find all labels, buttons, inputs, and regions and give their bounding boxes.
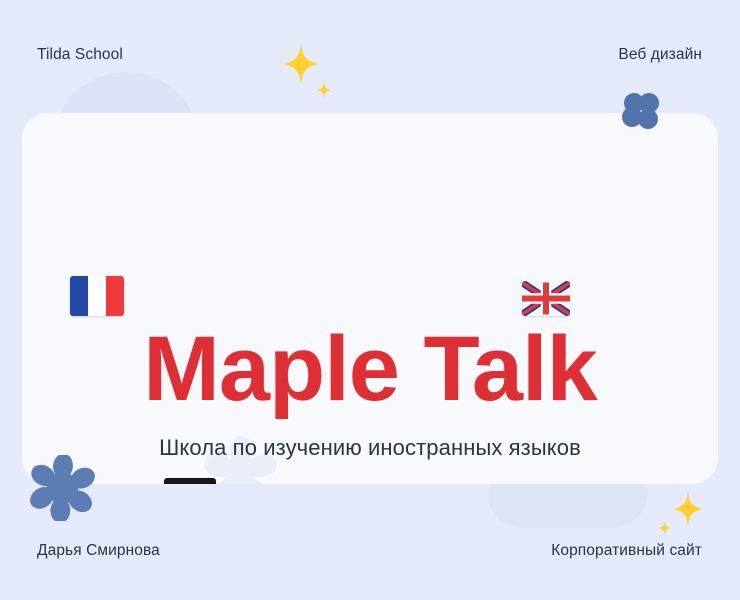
poster-canvas: Tilda School Веб дизайн Дарья Смирнова К… [0, 0, 740, 600]
page-subtitle: Школа по изучению иностранных языков [22, 435, 718, 461]
flower-blue-icon [30, 455, 96, 521]
label-top-left: Tilda School [37, 46, 123, 64]
sparkle-icon [283, 44, 319, 84]
clover-icon [618, 89, 664, 133]
flag-germany-icon [164, 478, 216, 484]
label-bottom-right: Корпоративный сайт [551, 542, 702, 560]
page-title: Maple Talk [22, 323, 718, 415]
flag-united-kingdom-icon [522, 281, 570, 316]
main-card: Maple Talk Школа по изучению иностранных… [22, 113, 718, 484]
label-top-right: Веб дизайн [618, 46, 702, 64]
sparkle-small-icon [317, 82, 331, 98]
sparkle-small-icon [658, 521, 671, 535]
sparkle-icon [673, 492, 703, 526]
flag-france-icon [70, 276, 124, 316]
label-bottom-left: Дарья Смирнова [37, 542, 160, 560]
